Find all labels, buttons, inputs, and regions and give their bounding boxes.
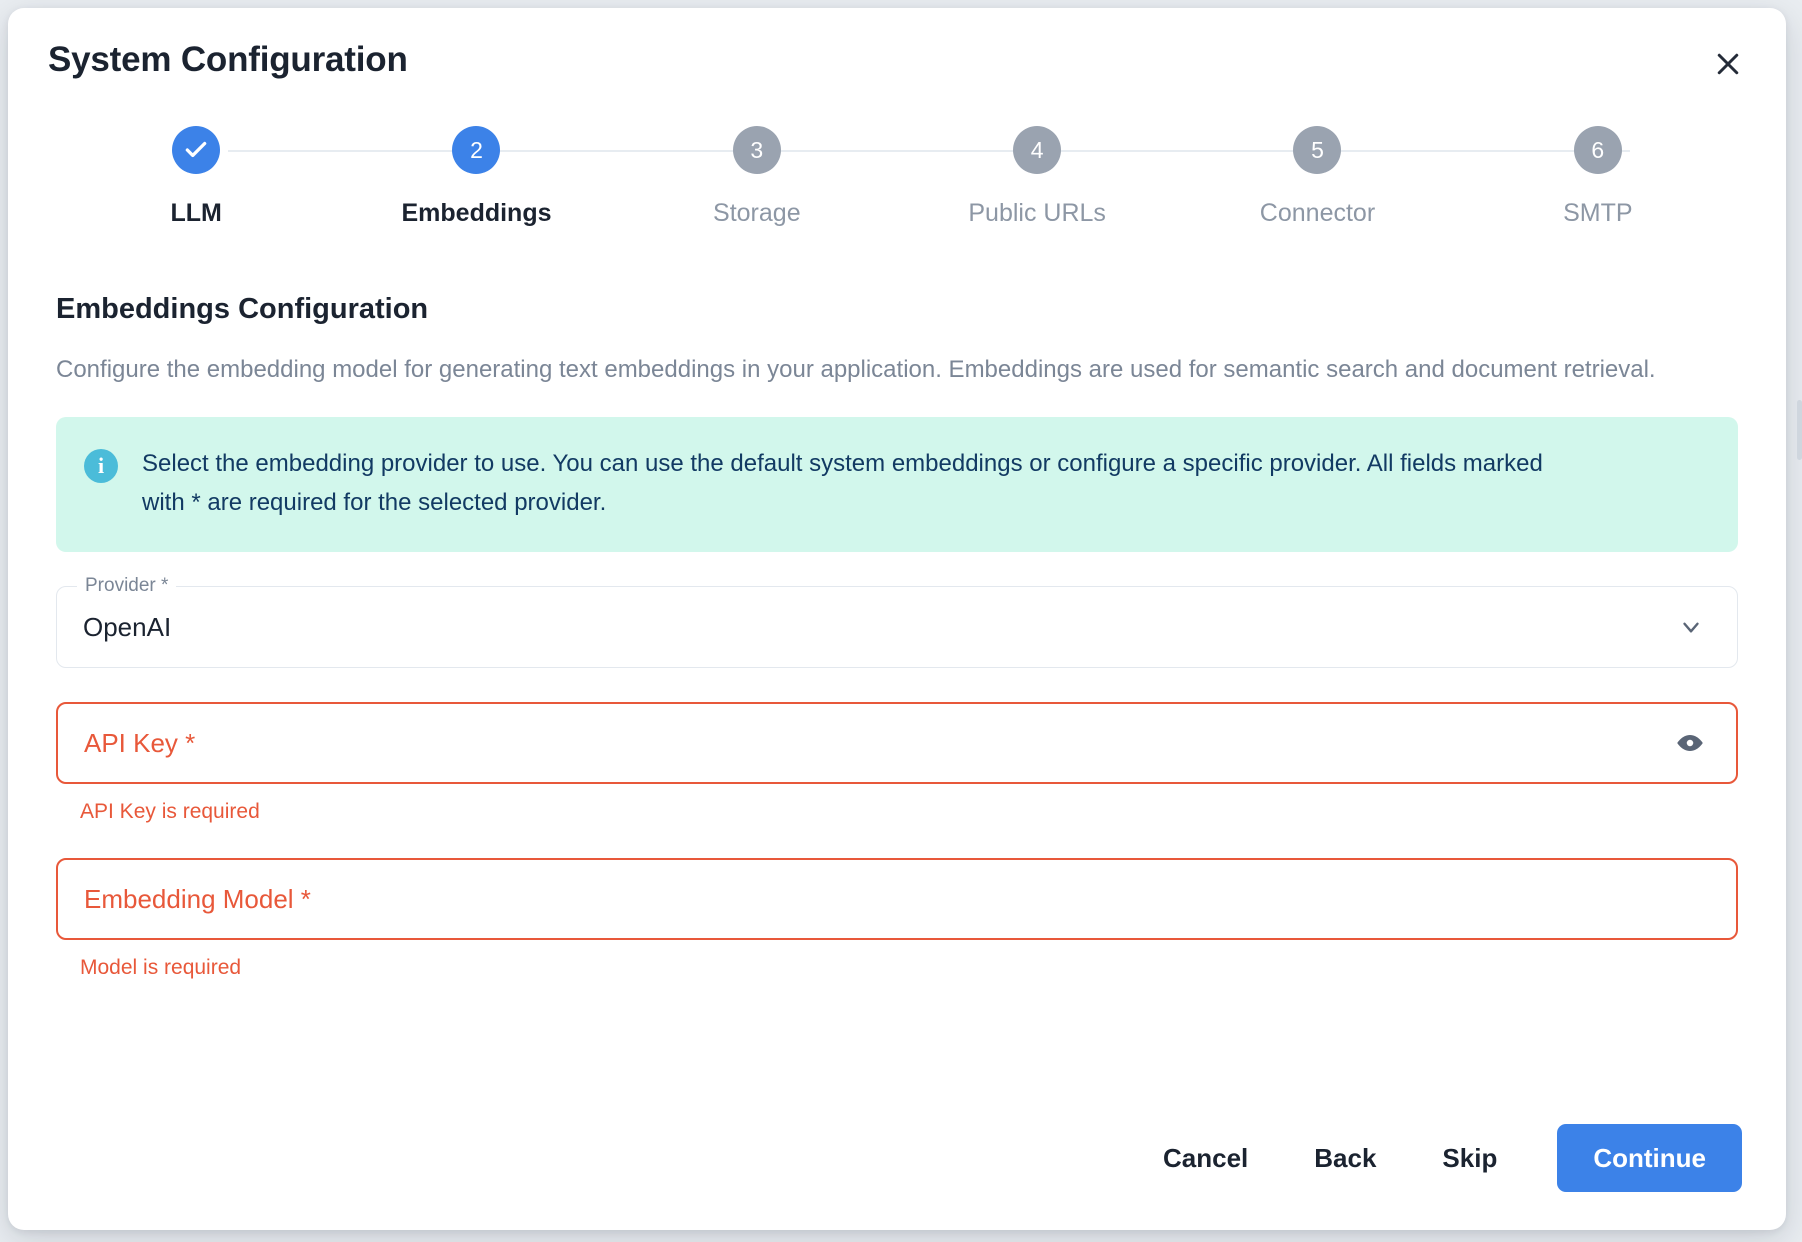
step-marker-smtp: 6	[1574, 126, 1622, 174]
info-alert-text: Select the embedding provider to use. Yo…	[142, 445, 1582, 522]
step-storage[interactable]: 3 Storage	[617, 126, 897, 228]
embedding-model-field: Embedding Model * Model is required	[56, 858, 1738, 980]
info-alert: i Select the embedding provider to use. …	[56, 417, 1738, 552]
dialog-footer: Cancel Back Skip Continue	[1135, 1124, 1742, 1192]
close-icon[interactable]	[1708, 44, 1748, 84]
step-marker-embeddings: 2	[452, 126, 500, 174]
dialog-header: System Configuration	[8, 8, 1786, 82]
provider-select[interactable]: Provider * OpenAI	[56, 586, 1738, 668]
step-llm[interactable]: LLM	[56, 126, 336, 228]
provider-value: OpenAI	[83, 612, 171, 643]
screen-root: System Configuration LLM	[0, 0, 1802, 1242]
step-label-smtp: SMTP	[1563, 200, 1632, 228]
back-button[interactable]: Back	[1286, 1129, 1404, 1187]
chevron-down-icon[interactable]	[1669, 605, 1713, 649]
section-title: Embeddings Configuration	[56, 294, 1738, 326]
system-configuration-dialog: System Configuration LLM	[8, 8, 1786, 1230]
eye-icon[interactable]	[1668, 721, 1712, 765]
embedding-model-error: Model is required	[80, 956, 1738, 980]
step-marker-storage: 3	[733, 126, 781, 174]
dialog-body: Embeddings Configuration Configure the e…	[8, 294, 1786, 981]
cancel-button[interactable]: Cancel	[1135, 1129, 1276, 1187]
section-description: Configure the embedding model for genera…	[56, 351, 1738, 389]
step-marker-public-urls: 4	[1013, 126, 1061, 174]
step-label-embeddings: Embeddings	[401, 200, 551, 228]
api-key-input[interactable]: API Key *	[56, 702, 1738, 784]
provider-field: Provider * OpenAI	[56, 586, 1738, 668]
embedding-model-input[interactable]: Embedding Model *	[56, 858, 1738, 940]
step-label-connector: Connector	[1260, 200, 1375, 228]
wizard-stepper: LLM 2 Embeddings 3 Storage 4 Public URLs…	[56, 126, 1738, 228]
step-marker-llm	[172, 126, 220, 174]
api-key-placeholder: API Key *	[84, 728, 195, 759]
step-public-urls[interactable]: 4 Public URLs	[897, 126, 1177, 228]
step-label-public-urls: Public URLs	[968, 200, 1106, 228]
api-key-field: API Key * API Key is required	[56, 702, 1738, 824]
embedding-model-placeholder: Embedding Model *	[84, 884, 311, 915]
continue-button[interactable]: Continue	[1557, 1124, 1742, 1192]
provider-label: Provider *	[77, 576, 176, 595]
step-marker-connector: 5	[1293, 126, 1341, 174]
step-label-llm: LLM	[170, 200, 221, 228]
step-smtp[interactable]: 6 SMTP	[1458, 126, 1738, 228]
step-label-storage: Storage	[713, 200, 801, 228]
step-connector-step[interactable]: 5 Connector	[1177, 126, 1457, 228]
scrollbar-thumb[interactable]	[1797, 400, 1802, 460]
info-icon: i	[84, 449, 118, 483]
skip-button[interactable]: Skip	[1414, 1129, 1525, 1187]
step-embeddings[interactable]: 2 Embeddings	[336, 126, 616, 228]
page-title: System Configuration	[48, 42, 1746, 77]
api-key-error: API Key is required	[80, 800, 1738, 824]
